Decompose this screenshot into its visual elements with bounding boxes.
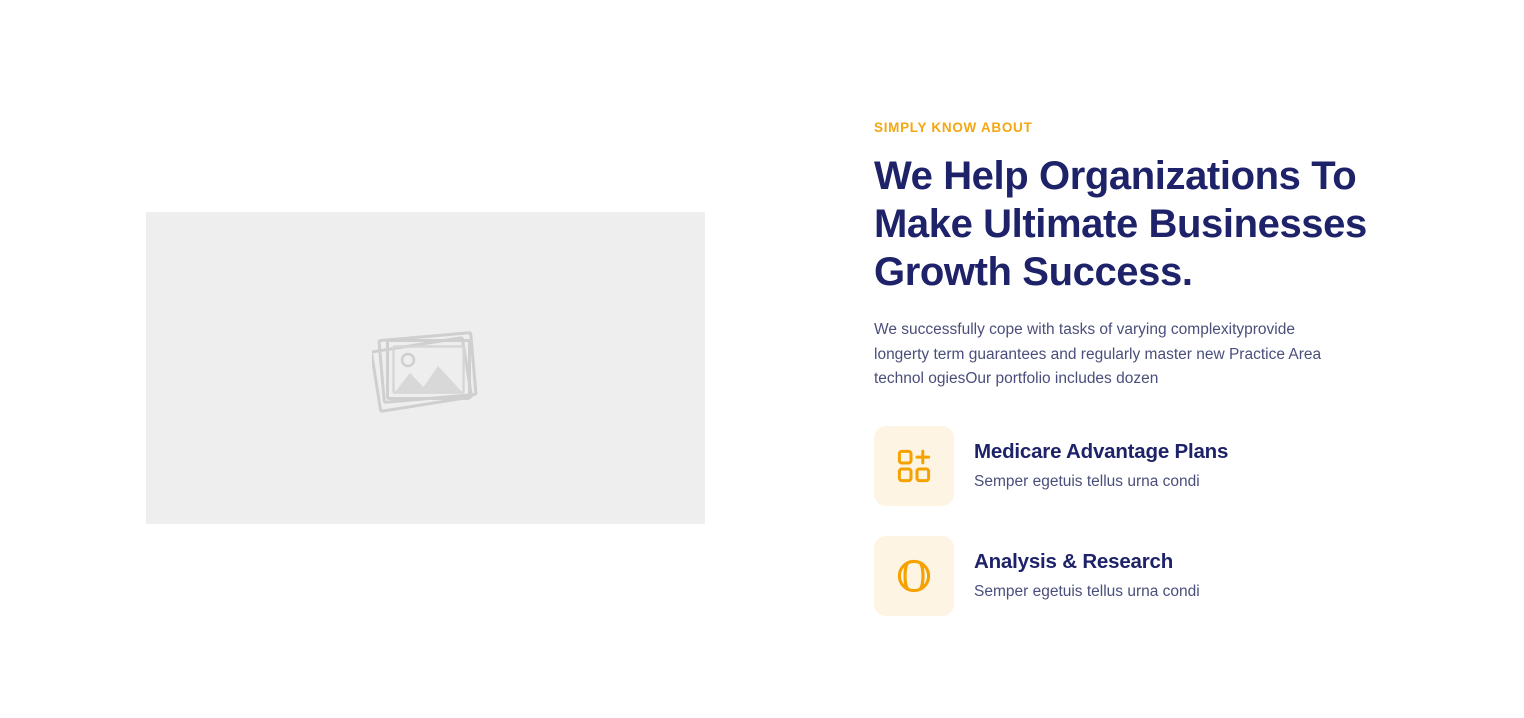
feature-text: Medicare Advantage Plans Semper egetuis … — [974, 440, 1228, 491]
grid-plus-icon — [897, 449, 931, 483]
feature-icon-box — [874, 536, 954, 616]
feature-item[interactable]: Analysis & Research Semper egetuis tellu… — [874, 536, 1374, 616]
image-placeholder — [146, 212, 705, 524]
section-paragraph: We successfully cope with tasks of varyi… — [874, 318, 1354, 391]
about-section: SIMPLY KNOW ABOUT We Help Organizations … — [0, 0, 1524, 718]
feature-title: Medicare Advantage Plans — [974, 440, 1228, 464]
feature-item[interactable]: Medicare Advantage Plans Semper egetuis … — [874, 426, 1374, 506]
image-placeholder-icon — [372, 322, 480, 414]
section-eyebrow: SIMPLY KNOW ABOUT — [874, 120, 1374, 136]
feature-subtitle: Semper egetuis tellus urna condi — [974, 583, 1200, 602]
section-headline: We Help Organizations To Make Ultimate B… — [874, 152, 1369, 296]
feature-subtitle: Semper egetuis tellus urna condi — [974, 473, 1228, 492]
feature-title: Analysis & Research — [974, 550, 1200, 574]
media-column — [146, 212, 705, 524]
feature-text: Analysis & Research Semper egetuis tellu… — [974, 550, 1200, 601]
baseball-globe-icon — [896, 558, 932, 594]
feature-icon-box — [874, 426, 954, 506]
feature-list: Medicare Advantage Plans Semper egetuis … — [874, 426, 1374, 616]
content-column: SIMPLY KNOW ABOUT We Help Organizations … — [874, 120, 1374, 616]
